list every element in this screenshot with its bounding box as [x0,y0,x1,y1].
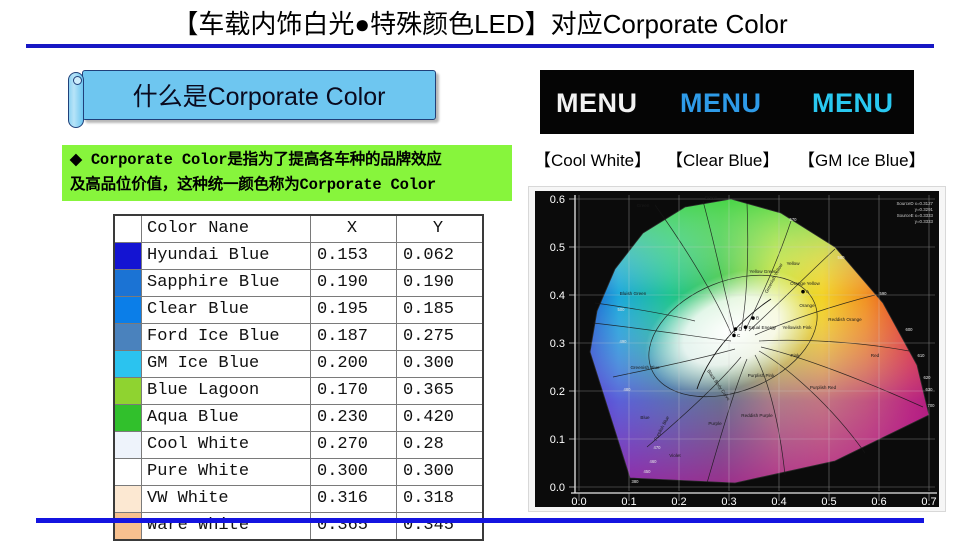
table-row: Clear Blue0.1950.185 [114,297,483,324]
menu-display-photo: MENU MENU MENU [540,70,914,134]
coord-x-cell: 0.365 [311,513,397,541]
header-divider [26,44,934,48]
cie-region-label: Violet [669,453,681,458]
cie-source-annotation: y=0.3333 [915,219,934,224]
green-note-line-1: ◆ Corporate Color是指为了提高各车种的品牌效应 [70,148,512,173]
cie-region-label: Yellowish Pink [782,325,812,330]
cie-white-point [744,325,748,329]
coord-x-cell: 0.187 [311,324,397,351]
cie-region-label: Red [871,353,880,358]
coord-y-cell: 0.275 [397,324,484,351]
cie-xtick-label: 0.4 [771,496,786,507]
color-swatch [114,378,142,405]
table-row: Blue Lagoon0.1700.365 [114,378,483,405]
color-name-cell: Sapphire Blue [142,270,311,297]
cie-ytick-label: 0.3 [550,338,565,350]
cie-white-point [751,316,755,320]
green-note-box: ◆ Corporate Color是指为了提高各车种的品牌效应 及高品位价值，这… [62,145,512,201]
color-swatch [114,405,142,432]
coord-x-cell: 0.200 [311,351,397,378]
table-row: GM Ice Blue0.2000.300 [114,351,483,378]
cie-region-label: Green [705,195,718,200]
coord-y-cell: 0.365 [397,378,484,405]
color-name-cell: Hyundai Blue [142,243,311,270]
coord-x-cell: 0.270 [311,432,397,459]
color-swatch [114,459,142,486]
cie-wavelength-label: 570 [790,217,798,222]
banner-label: 什么是Corporate Color [82,70,436,120]
cie-wavelength-label: 630 [926,387,934,392]
cie-region-label: Orange [799,303,815,308]
cie-xtick-label: 0.5 [821,496,836,507]
cie-white-point [732,334,736,338]
table-header-cell [114,215,142,243]
color-swatch [114,432,142,459]
table-header-cell: Y [397,215,484,243]
coord-x-cell: 0.170 [311,378,397,405]
color-swatch [114,324,142,351]
cie-xtick-label: 0.0 [571,496,586,507]
coord-y-cell: 0.185 [397,297,484,324]
green-note-line-2: 及高品位价值，这种统一颜色称为Corporate Color [70,173,512,198]
color-name-cell: Pure White [142,459,311,486]
color-name-cell: Blue Lagoon [142,378,311,405]
coord-x-cell: 0.300 [311,459,397,486]
cie-region-label: Green [637,203,650,208]
cie-ytick-label: 0.5 [550,242,565,254]
corporate-color-table: Color NaneXYHyundai Blue0.1530.062Sapphi… [113,214,484,541]
cie-region-label: Purplish Pink [748,373,776,378]
cie-plot-area: Black Body Curve [535,191,939,507]
coord-y-cell: 0.062 [397,243,484,270]
cie-xtick-label: 0.1 [621,496,636,507]
cie-ytick-label: 0.2 [550,386,565,398]
cie-wavelength-label: 490 [620,339,628,344]
table-row: Ford Ice Blue0.1870.275 [114,324,483,351]
cie-point-label: B [756,316,759,321]
cie-region-label: Orange Yellow [790,281,820,286]
menu-word-clear-blue: MENU [680,88,762,119]
cie-source-annotation: y=0.3291 [915,207,934,212]
cie-white-point [801,290,805,294]
banner-curl-dot-icon [73,76,82,85]
color-name-cell: Ford Ice Blue [142,324,311,351]
cie-region-label: Purple [708,421,722,426]
cie-source-annotation: SourceD x=0.3127 [897,201,934,206]
color-name-cell: Aqua Blue [142,405,311,432]
color-name-cell: VW White [142,486,311,513]
table-row: Hyundai Blue0.1530.062 [114,243,483,270]
cie-wavelength-label: 380 [632,479,640,484]
color-name-cell: Cool White [142,432,311,459]
cie-ytick-label: 0.0 [550,482,565,494]
cie-region-label: Reddish Purple [741,413,773,418]
cie-wavelength-label: 600 [906,327,914,332]
cie-ytick-label: 0.4 [550,290,565,302]
color-swatch [114,297,142,324]
cie-region-label: Purplish Red [810,385,837,390]
cie-region-label: Pink [791,353,801,358]
cie-chromaticity-diagram: Black Body Curve [528,186,946,512]
coord-y-cell: 0.420 [397,405,484,432]
cie-wavelength-label: 620 [924,375,932,380]
menu-word-cool-white: MENU [556,88,638,119]
coord-x-cell: 0.195 [311,297,397,324]
menu-caption-cool-white: 【Cool White】 [534,146,651,171]
cie-xtick-label: 0.2 [671,496,686,507]
color-swatch [114,270,142,297]
table-header-row: Color NaneXY [114,215,483,243]
table-header-cell: X [311,215,397,243]
coord-x-cell: 0.230 [311,405,397,432]
cie-ytick-label: 0.1 [550,434,565,446]
cie-ytick-label: 0.6 [550,194,565,206]
coord-x-cell: 0.316 [311,486,397,513]
cie-wavelength-label: 500 [618,307,626,312]
table-row: Sapphire Blue0.1900.190 [114,270,483,297]
coord-x-cell: 0.153 [311,243,397,270]
cie-region-label: Yellow [786,261,800,266]
coord-y-cell: 0.28 [397,432,484,459]
cie-wavelength-label: 460 [650,459,658,464]
menu-caption-clear-blue: 【Clear Blue】 [666,146,779,171]
cie-wavelength-label: 590 [880,291,888,296]
menu-captions: 【Cool White】 【Clear Blue】 【GM Ice Blue】 [534,146,954,170]
menu-word-gm-ice-blue: MENU [812,88,894,119]
cie-xtick-label: 0.3 [721,496,736,507]
menu-caption-gm-ice-blue: 【GM Ice Blue】 [798,146,926,171]
color-name-cell: GM Ice Blue [142,351,311,378]
table-row: Cool White0.2700.28 [114,432,483,459]
cie-region-label: Bluish Green [620,291,647,296]
coord-y-cell: 0.345 [397,513,484,541]
color-name-cell: Clear Blue [142,297,311,324]
color-swatch [114,243,142,270]
coord-y-cell: 0.190 [397,270,484,297]
coord-y-cell: 0.300 [397,351,484,378]
coord-y-cell: 0.300 [397,459,484,486]
color-swatch [114,351,142,378]
color-swatch [114,486,142,513]
page-title: 【车载内饰白光●特殊颜色LED】对应Corporate Color [0,4,960,41]
cie-wavelength-label: 480 [624,387,632,392]
color-swatch [114,513,142,541]
color-name-cell: Ware White [142,513,311,541]
cie-wavelength-label: 450 [644,469,652,474]
cie-wavelength-label: 580 [838,255,846,260]
table-row: Aqua Blue0.2300.420 [114,405,483,432]
cie-region-label: Greenish Blue [630,365,660,370]
table-row: VW White0.3160.318 [114,486,483,513]
cie-xtick-label: 0.7 [921,496,936,507]
cie-region-label: Blue [640,415,650,420]
cie-region-label: Reddish Orange [828,317,862,322]
cie-xtick-label: 0.6 [871,496,886,507]
cie-white-point [734,327,738,331]
table-header-cell: Color Nane [142,215,311,243]
coord-y-cell: 0.318 [397,486,484,513]
footer-divider [36,518,924,523]
cie-point-label: Equal Energy [749,325,777,330]
table-row: Pure White0.3000.300 [114,459,483,486]
section-banner: 什么是Corporate Color [68,70,436,122]
cie-wavelength-label: 470 [654,445,662,450]
coord-x-cell: 0.190 [311,270,397,297]
cie-svg: Black Body Curve [535,191,939,507]
cie-wavelength-label: 610 [918,353,926,358]
table-row: Ware White0.3650.345 [114,513,483,541]
cie-source-annotation: SourceE x=0.3333 [897,213,934,218]
cie-wavelength-label: 700 [928,403,936,408]
